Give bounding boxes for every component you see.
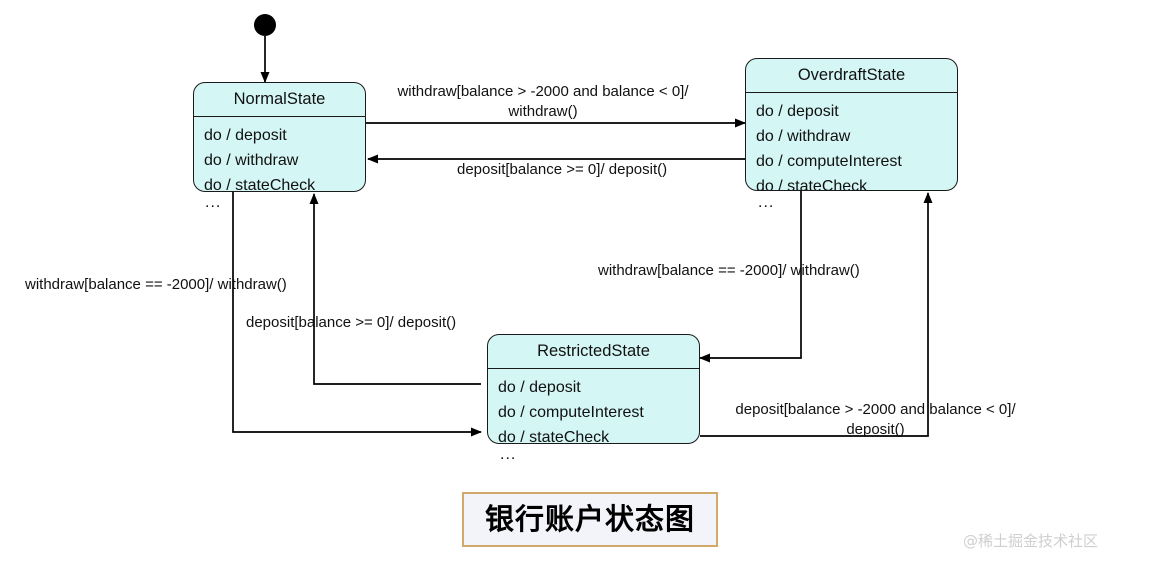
state-normal-activities: do / deposit do / withdraw do / stateChe… (194, 117, 365, 193)
state-normal[interactable]: NormalState do / deposit do / withdraw d… (193, 82, 366, 192)
label-overdraft-to-normal: deposit[balance >= 0]/ deposit() (457, 160, 667, 180)
watermark: @稀土掘金技术社区 (963, 530, 1098, 551)
activity-item: do / computeInterest (498, 400, 699, 425)
label-normal-to-overdraft: withdraw[balance > -2000 and balance < 0… (378, 82, 708, 122)
label-line-1: deposit[balance > -2000 and balance < 0]… (713, 400, 1038, 420)
state-overdraft[interactable]: OverdraftState do / deposit do / withdra… (745, 58, 958, 191)
diagram-title-plate: 银行账户状态图 (462, 492, 718, 547)
state-restricted[interactable]: RestrictedState do / deposit do / comput… (487, 334, 700, 444)
state-overdraft-ellipsis: ... (758, 195, 774, 211)
activity-item: do / stateCheck (204, 173, 365, 193)
edge-normal-to-restricted (233, 192, 481, 432)
state-overdraft-title: OverdraftState (746, 59, 957, 93)
label-restricted-to-overdraft: deposit[balance > -2000 and balance < 0]… (713, 400, 1038, 440)
state-diagram-canvas: NormalState do / deposit do / withdraw d… (0, 0, 1155, 569)
initial-state-node (254, 14, 276, 36)
activity-item: do / stateCheck (498, 425, 699, 445)
label-normal-to-restricted: withdraw[balance == -2000]/ withdraw() (25, 275, 287, 295)
activity-item: do / deposit (498, 375, 699, 400)
state-restricted-title: RestrictedState (488, 335, 699, 369)
activity-item: do / withdraw (204, 148, 365, 173)
label-line-1: withdraw[balance > -2000 and balance < 0… (378, 82, 708, 102)
edge-restricted-to-normal (314, 194, 481, 384)
label-line-2: withdraw() (378, 102, 708, 122)
activity-item: do / stateCheck (756, 174, 957, 192)
state-restricted-ellipsis: ... (500, 447, 516, 463)
label-restricted-to-normal: deposit[balance >= 0]/ deposit() (246, 313, 456, 333)
activity-item: do / computeInterest (756, 149, 957, 174)
page-title: 银行账户状态图 (485, 505, 695, 534)
state-overdraft-activities: do / deposit do / withdraw do / computeI… (746, 93, 957, 192)
activity-item: do / deposit (204, 123, 365, 148)
label-overdraft-to-restricted: withdraw[balance == -2000]/ withdraw() (598, 261, 860, 281)
state-normal-title: NormalState (194, 83, 365, 117)
state-normal-ellipsis: ... (205, 195, 221, 211)
state-restricted-activities: do / deposit do / computeInterest do / s… (488, 369, 699, 445)
label-line-2: deposit() (713, 420, 1038, 440)
activity-item: do / deposit (756, 99, 957, 124)
activity-item: do / withdraw (756, 124, 957, 149)
